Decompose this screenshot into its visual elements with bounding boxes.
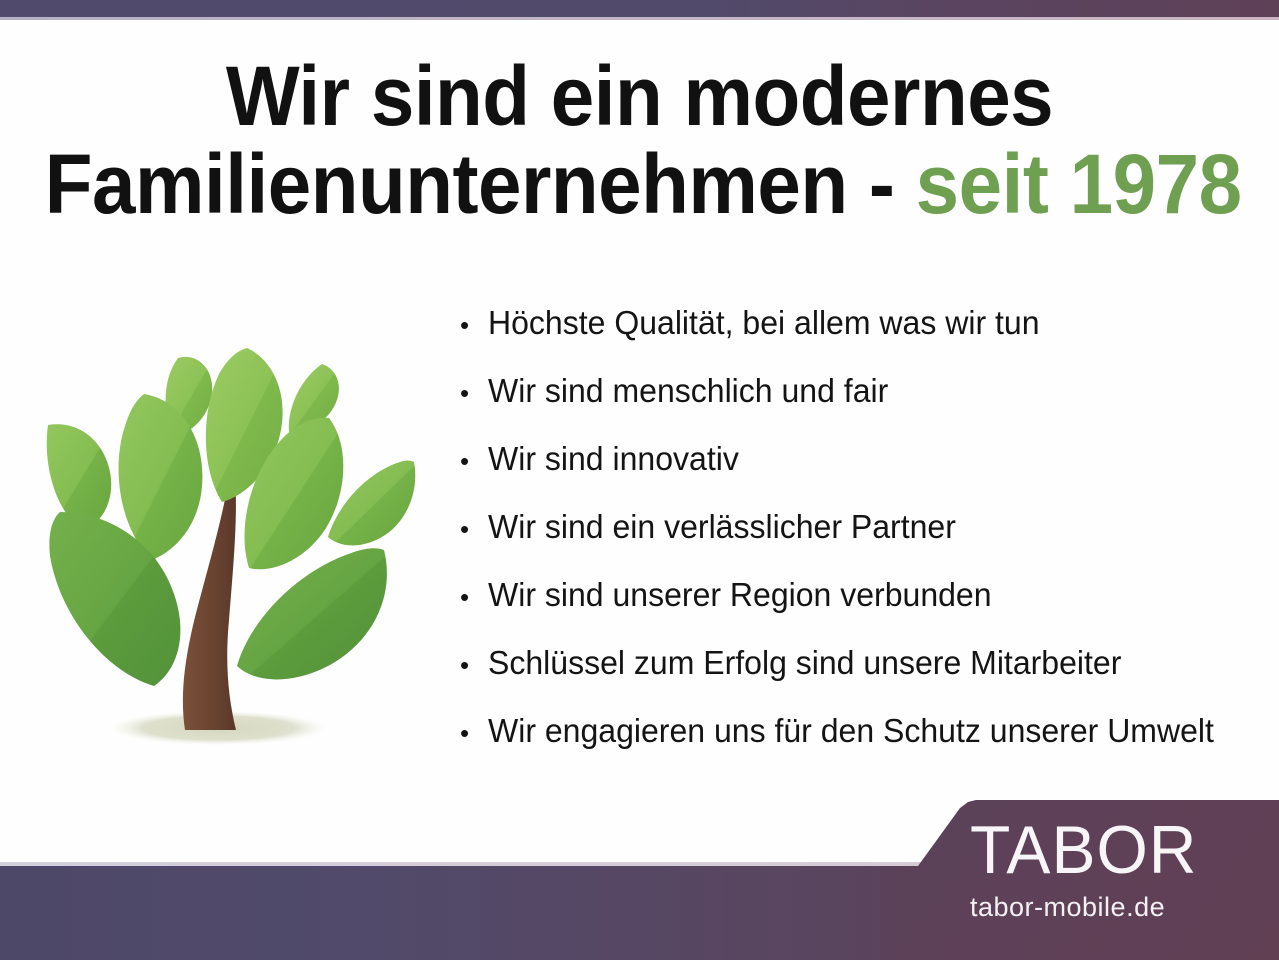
logo-wordmark: TABOR <box>970 816 1270 883</box>
list-item: • Wir sind innovativ <box>460 441 1270 509</box>
bullet-marker-icon: • <box>460 648 488 682</box>
tree-icon <box>22 332 442 762</box>
slide-canvas: Wir sind ein modernes Familienunternehme… <box>0 0 1279 960</box>
logo-text-group: TABOR tabor-mobile.de <box>970 816 1270 922</box>
list-item-label: Wir sind ein verlässlicher Partner <box>488 509 956 545</box>
bullet-marker-icon: • <box>460 580 488 614</box>
bullet-marker-icon: • <box>460 308 488 342</box>
bullet-marker-icon: • <box>460 512 488 546</box>
list-item: • Wir engagieren uns für den Schutz unse… <box>460 713 1270 781</box>
top-accent-bar-underline <box>0 17 1279 20</box>
title-accent-seit-1978: seit 1978 <box>916 137 1242 231</box>
page-title: Wir sind ein modernes Familienunternehme… <box>0 52 1279 228</box>
bullet-marker-icon: • <box>460 716 488 750</box>
title-line-1: Wir sind ein modernes <box>45 52 1234 140</box>
list-item-label: Höchste Qualität, bei allem was wir tun <box>488 305 1040 341</box>
title-line-2-main: Familienunternehmen - <box>45 137 916 231</box>
list-item-label: Wir engagieren uns für den Schutz unsere… <box>488 713 1214 749</box>
list-item-label: Schlüssel zum Erfolg sind unsere Mitarbe… <box>488 645 1121 681</box>
bullet-marker-icon: • <box>460 376 488 410</box>
logo-url: tabor-mobile.de <box>970 892 1270 922</box>
list-item: • Wir sind menschlich und fair <box>460 373 1270 441</box>
value-bullet-list: • Höchste Qualität, bei allem was wir tu… <box>460 305 1270 781</box>
list-item: • Wir sind ein verlässlicher Partner <box>460 509 1270 577</box>
brand-logo[interactable]: TABOR tabor-mobile.de <box>880 800 1279 960</box>
list-item-label: Wir sind unserer Region verbunden <box>488 577 992 613</box>
list-item-label: Wir sind menschlich und fair <box>488 373 888 409</box>
list-item: • Wir sind unserer Region verbunden <box>460 577 1270 645</box>
bullet-marker-icon: • <box>460 444 488 478</box>
list-item: • Höchste Qualität, bei allem was wir tu… <box>460 305 1270 373</box>
list-item-label: Wir sind innovativ <box>488 441 739 477</box>
title-line-2: Familienunternehmen - seit 1978 <box>45 140 1234 228</box>
list-item: • Schlüssel zum Erfolg sind unsere Mitar… <box>460 645 1270 713</box>
top-accent-bar <box>0 0 1279 17</box>
